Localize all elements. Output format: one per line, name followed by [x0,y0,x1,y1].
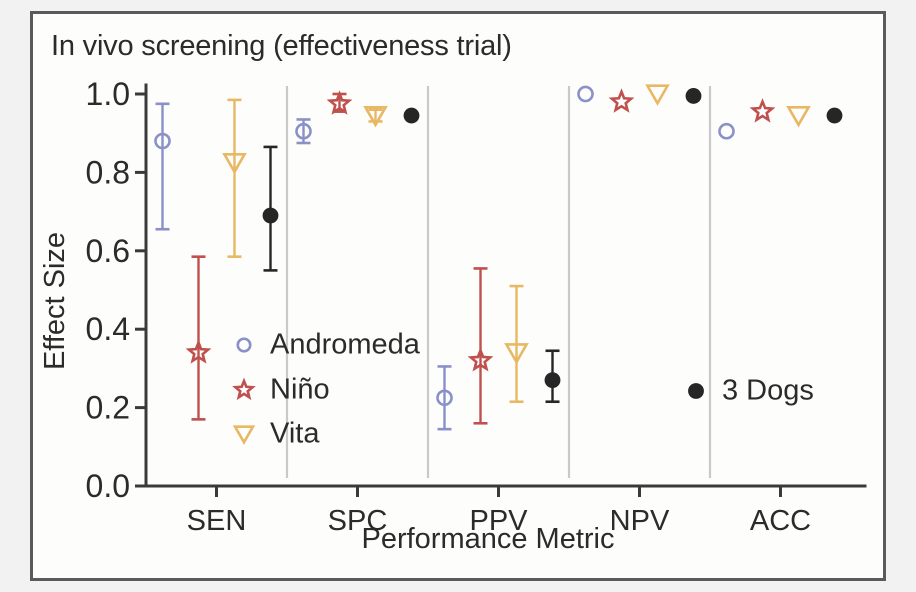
y-axis-title: Effect Size [39,232,71,370]
legend-item-ni-o[interactable]: Niño [235,374,329,406]
y-tick-label: 1.0 [86,76,130,112]
legend-label: 3 Dogs [722,375,814,407]
y-tick-label: 0.8 [86,154,130,190]
error-bar [474,268,488,423]
data-point-acc-ni-o [753,102,772,120]
legend-item-vita[interactable]: Vita [235,418,320,450]
legend-item-3-dogs[interactable]: 3 Dogs [688,375,814,407]
y-tick-label: 0.2 [86,390,130,426]
data-point-npv-3-dogs [686,88,702,104]
error-bar [156,104,170,229]
legend-label: Vita [270,418,320,450]
data-point-npv-vita [647,86,667,104]
data-point-ppv-3-dogs [545,372,561,388]
y-tick-label: 0.6 [86,233,130,269]
group-separators [287,86,710,478]
y-tick-label: 0.4 [86,311,130,347]
y-tick-label: 0.0 [86,468,130,504]
legend-item-andromeda[interactable]: Andromeda [238,329,421,361]
legend-marker-3-dogs [688,383,704,399]
data-point-acc-andromeda [719,124,733,138]
error-bar [438,366,452,429]
y-axis-ticks: 0.00.20.40.60.81.0 [86,76,146,504]
error-bar [192,257,206,420]
figure-frame: In vivo screening (effectiveness trial) … [30,11,886,581]
legend-label: Andromeda [270,329,421,361]
data-point-npv-ni-o [612,92,631,110]
legend-marker-ni-o [235,381,252,397]
data-point-spc-3-dogs [404,108,420,124]
x-tick-label-sen: SEN [187,505,247,537]
legend-marker-vita [235,427,253,443]
data-point-acc-vita [788,107,808,125]
legend-marker-andromeda [238,339,250,351]
data-point-npv-andromeda [578,87,592,101]
error-bar [228,100,242,257]
x-tick-label-npv: NPV [610,505,670,537]
data-point-sen-3-dogs [263,208,279,224]
x-axis-title: Performance Metric [361,523,614,555]
data-point-acc-3-dogs [827,108,843,124]
legend-label: Niño [270,374,330,406]
x-tick-label-acc: ACC [750,505,811,537]
scatter-chart: 0.00.20.40.60.81.0 SENSPCPPVNPVACC Effec… [33,14,883,578]
series-andromeda [155,87,733,429]
